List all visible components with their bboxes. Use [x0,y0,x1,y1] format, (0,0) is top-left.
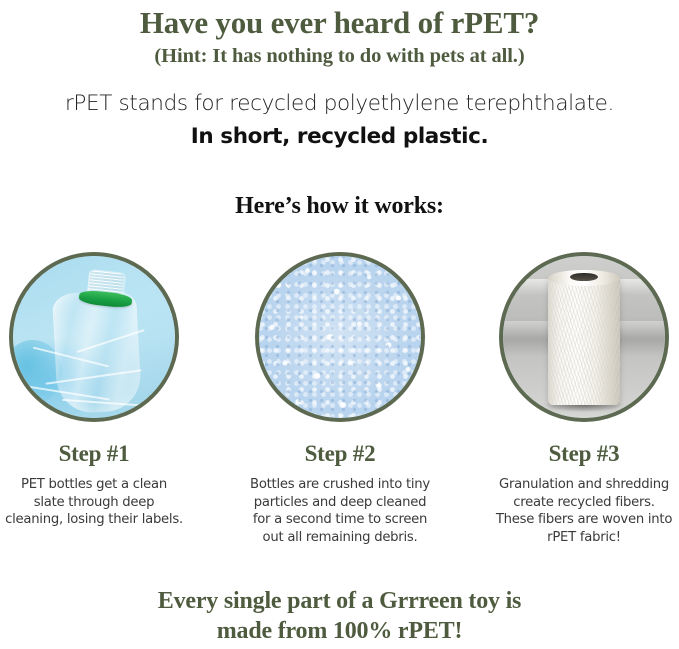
bottle-body-shape [52,290,142,414]
step-2-image-circle [255,252,425,422]
steps-row: Step #1 PET bottles get a clean slate th… [0,250,679,570]
step-3-description: Granulation and shredding create recycle… [471,476,679,546]
flake-texture-layer [259,256,421,418]
definition-line-2: In short, recycled plastic. [0,120,679,153]
crushed-pet-bottle-photo [13,256,175,418]
footer-line-2: made from 100% rPET! [0,616,679,646]
rpet-infographic: Have you ever heard of rPET? (Hint: It h… [0,0,679,649]
step-item-2: Step #2 Bottles are crushed into tiny pa… [227,250,453,546]
title-hint: (Hint: It has nothing to do with pets at… [0,44,679,69]
step-2-label: Step #2 [227,441,453,467]
definition-block: rPET stands for recycled polyethylene te… [0,88,679,153]
step-3-image-clip [503,256,665,418]
step-3-image-circle [499,252,669,422]
step-item-3: Step #3 Granulation and shredding create… [471,250,679,546]
step-1-description: PET bottles get a clean slate through de… [0,476,207,529]
step-2-description: Bottles are crushed into tiny particles … [227,476,453,546]
footer-claim: Every single part of a Grrreen toy is ma… [0,586,679,646]
section-heading: Here’s how it works: [0,191,679,221]
step-1-image-circle [9,252,179,422]
plastic-flakes-photo [259,256,421,418]
step-2-image-clip [259,256,421,418]
footer-line-1: Every single part of a Grrreen toy is [0,586,679,616]
step-1-label: Step #1 [0,441,207,467]
page-title: Have you ever heard of rPET? [0,5,679,41]
step-item-1: Step #1 PET bottles get a clean slate th… [0,250,207,529]
yarn-spool-photo [503,256,665,418]
spool-winding [548,275,619,405]
definition-line-1: rPET stands for recycled polyethylene te… [0,88,679,120]
step-1-image-clip [13,256,175,418]
step-3-label: Step #3 [471,441,679,467]
